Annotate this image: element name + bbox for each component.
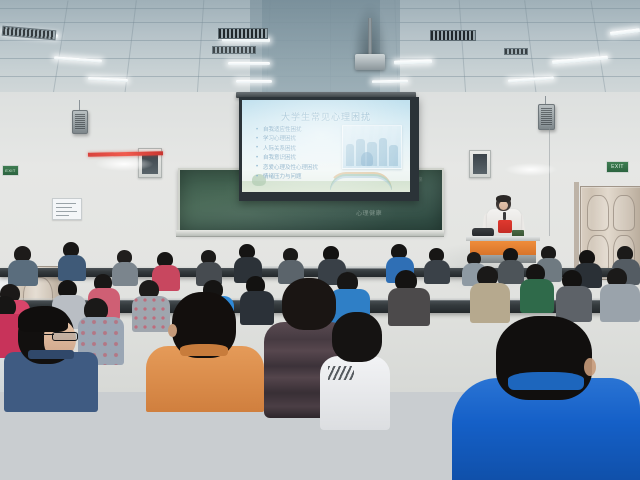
person-head bbox=[282, 278, 336, 330]
person-collar bbox=[28, 350, 74, 359]
desk-foreground-left bbox=[0, 378, 294, 480]
lecture-hall-photo: EXIT EXIT 心理健康 讲座 大学生常见心理困扰 bbox=[0, 0, 640, 480]
person-head bbox=[332, 312, 382, 362]
glasses-icon bbox=[52, 332, 78, 341]
glasses-temple bbox=[42, 334, 54, 335]
person-ear bbox=[584, 358, 596, 376]
person-collar bbox=[180, 344, 228, 356]
person-collar bbox=[508, 372, 584, 390]
shirt-print bbox=[328, 366, 354, 380]
person-ear bbox=[168, 324, 177, 337]
person-hair bbox=[18, 306, 68, 332]
